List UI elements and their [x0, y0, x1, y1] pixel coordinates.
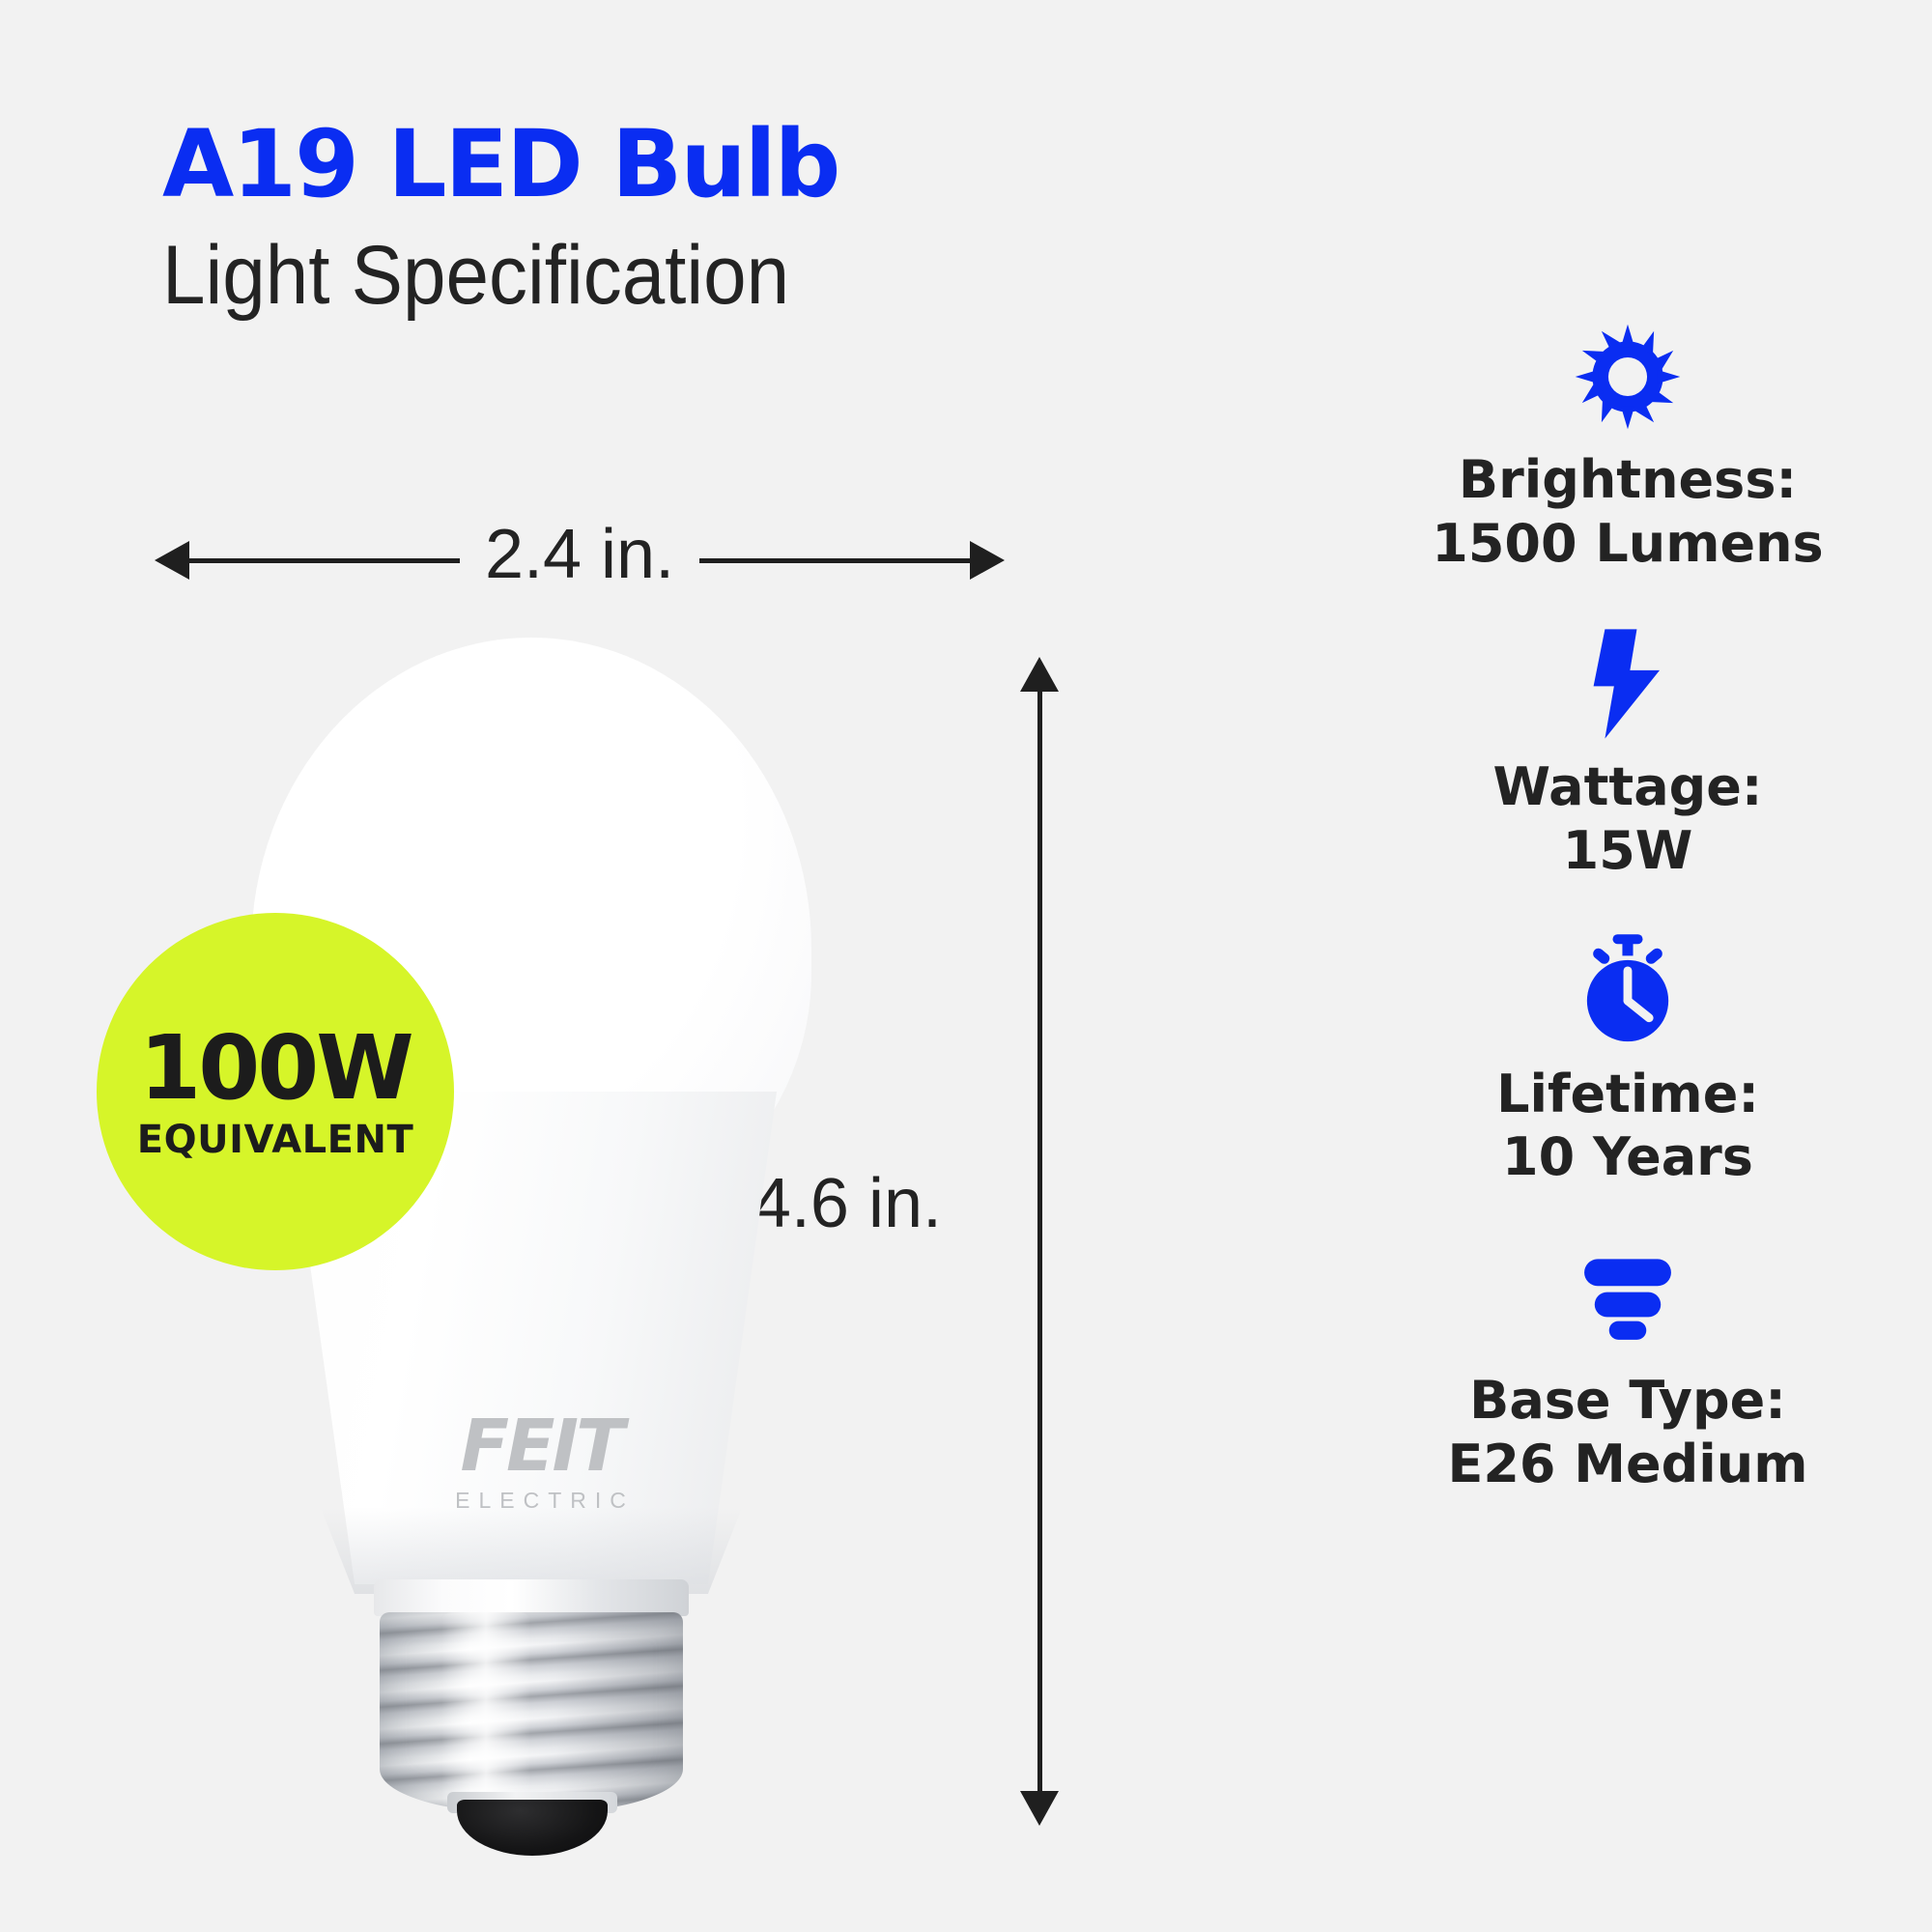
- spec-list: Brightness: 1500 Lumens Wattage: 15W: [1343, 319, 1913, 1547]
- base-threads: [380, 1612, 683, 1813]
- lightning-bolt-icon: [1583, 626, 1672, 742]
- spec-label-wattage: Wattage:: [1492, 755, 1762, 819]
- base-threads-highlight: [441, 1612, 530, 1813]
- width-dimension-arrow: 2.4 in.: [155, 517, 1005, 604]
- page-title: A19 LED Bulb: [162, 118, 1128, 211]
- bulb-screw-base: [353, 1579, 710, 1869]
- badge-watts-value: 100W: [139, 1024, 412, 1113]
- sun-icon: [1571, 319, 1685, 435]
- spec-text-lifetime: Lifetime: 10 Years: [1496, 1063, 1759, 1190]
- spec-value-brightness: 1500 Lumens: [1432, 512, 1823, 576]
- arrow-head-up-icon: [1020, 657, 1059, 692]
- spec-item-base-type: Base Type: E26 Medium: [1343, 1239, 1913, 1496]
- feit-electric-logo: FEIT ELECTRIC: [401, 1410, 681, 1512]
- badge-equivalent-label: EQUIVALENT: [137, 1121, 413, 1159]
- height-dimension-arrow: [1012, 657, 1066, 1826]
- base-contact-tip: [457, 1800, 608, 1856]
- bulb-base-icon: [1576, 1239, 1680, 1355]
- spec-item-lifetime: Lifetime: 10 Years: [1343, 933, 1913, 1190]
- spec-value-base-type: E26 Medium: [1447, 1433, 1807, 1496]
- wattage-equivalent-badge: 100W EQUIVALENT: [97, 913, 454, 1270]
- spec-value-lifetime: 10 Years: [1496, 1125, 1759, 1189]
- spec-text-wattage: Wattage: 15W: [1492, 755, 1762, 883]
- dimension-line-right: [699, 558, 970, 563]
- arrow-head-left-icon: [155, 541, 189, 580]
- spec-label-brightness: Brightness:: [1432, 448, 1823, 512]
- arrow-head-down-icon: [1020, 1791, 1059, 1826]
- dimension-line-left: [189, 558, 460, 563]
- base-collar: [374, 1579, 689, 1616]
- spec-text-brightness: Brightness: 1500 Lumens: [1432, 448, 1823, 576]
- spec-item-wattage: Wattage: 15W: [1343, 626, 1913, 883]
- stopwatch-icon: [1574, 933, 1682, 1049]
- feit-sub-wordmark: ELECTRIC: [401, 1490, 681, 1512]
- dimension-line-vertical: [1037, 692, 1042, 1791]
- spec-value-wattage: 15W: [1492, 819, 1762, 883]
- page-subtitle: Light Specification: [162, 228, 1061, 324]
- spec-item-brightness: Brightness: 1500 Lumens: [1343, 319, 1913, 576]
- width-dimension-label: 2.4 in.: [460, 515, 699, 594]
- feit-wordmark: FEIT: [401, 1410, 681, 1482]
- spec-text-base-type: Base Type: E26 Medium: [1447, 1369, 1807, 1496]
- arrow-head-right-icon: [970, 541, 1005, 580]
- spec-label-lifetime: Lifetime:: [1496, 1063, 1759, 1126]
- spec-label-base-type: Base Type:: [1447, 1369, 1807, 1433]
- header-block: A19 LED Bulb Light Specification: [162, 118, 1128, 324]
- light-specification-infographic: A19 LED Bulb Light Specification 2.4 in.…: [0, 0, 1932, 1932]
